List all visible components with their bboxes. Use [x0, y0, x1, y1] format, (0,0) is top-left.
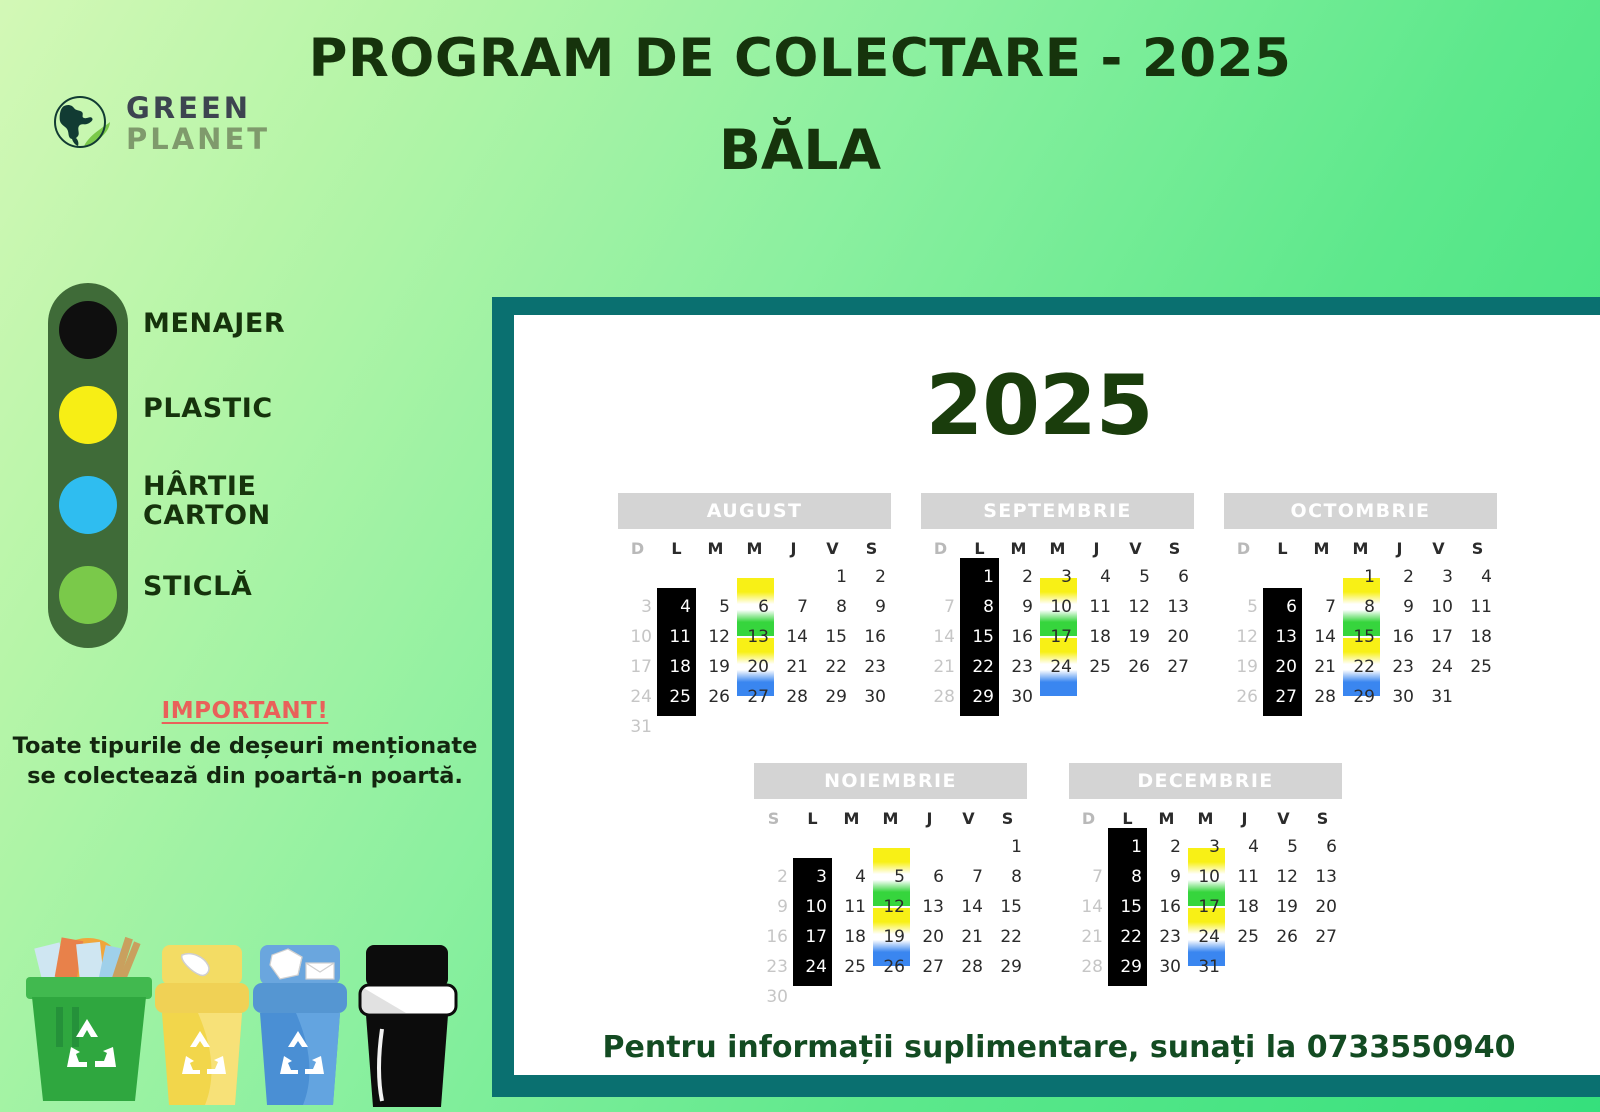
day-cell-22: 22: [813, 652, 852, 682]
day-number: 10: [1431, 597, 1453, 617]
day-cell-27: 27: [1155, 652, 1194, 682]
day-cell-16: 16: [754, 922, 793, 952]
day-cell-20: 20: [1155, 622, 1194, 652]
weekday-header-row: DLMMJVS: [921, 539, 1194, 558]
day-number: 30: [1392, 687, 1414, 707]
day-cell-6-plastic-sticla: 6: [735, 592, 774, 622]
day-number: 29: [1120, 957, 1142, 977]
day-number: 21: [933, 657, 955, 677]
day-number: 17: [1431, 627, 1453, 647]
weekday-1: L: [657, 539, 696, 558]
day-cell-26: 26: [871, 952, 910, 982]
day-number: 19: [883, 927, 905, 947]
day-cell-11-menajer: 11: [657, 622, 696, 652]
day-number: 28: [1081, 957, 1103, 977]
day-number: 20: [747, 657, 769, 677]
day-cell-empty: [1458, 682, 1497, 712]
day-number: 12: [708, 627, 730, 647]
day-number: 8: [1131, 867, 1142, 887]
weekday-5: V: [1264, 809, 1303, 828]
day-number: 24: [1431, 657, 1453, 677]
day-cell-23: 23: [852, 652, 891, 682]
day-cell-13: 13: [1155, 592, 1194, 622]
day-number: 13: [1167, 597, 1189, 617]
day-number: 3: [816, 867, 827, 887]
day-cell-9: 9: [754, 892, 793, 922]
day-cell-empty: [1069, 832, 1108, 862]
day-cell-15: 15: [988, 892, 1027, 922]
day-number: 22: [1120, 927, 1142, 947]
contact-footer: Pentru informații suplimentare, sunați l…: [514, 1030, 1600, 1065]
day-cell-14: 14: [949, 892, 988, 922]
poster-root: GREEN PLANET PROGRAM DE COLECTARE - 2025…: [0, 0, 1600, 1112]
day-grid: 1234567891011121314151617181920212223242…: [1224, 562, 1497, 712]
weekday-5: V: [1116, 539, 1155, 558]
day-cell-20-plastic-hartie: 20: [735, 652, 774, 682]
day-number: 20: [1315, 897, 1337, 917]
day-cell-24-menajer: 24: [793, 952, 832, 982]
day-cell-24: 24: [1419, 652, 1458, 682]
day-cell-31: 31: [1419, 682, 1458, 712]
day-cell-22-menajer: 22: [1108, 922, 1147, 952]
day-cell-25-menajer: 25: [657, 682, 696, 712]
day-number: 29: [1353, 687, 1375, 707]
day-cell-empty: [618, 562, 657, 592]
weekday-4: J: [910, 809, 949, 828]
legend-dot-menajer: [59, 301, 117, 359]
day-cell-7: 7: [1069, 862, 1108, 892]
day-number: 13: [922, 897, 944, 917]
day-cell-11: 11: [1077, 592, 1116, 622]
locality-title: BĂLA: [0, 118, 1600, 182]
day-cell-empty: [1077, 682, 1116, 712]
day-cell-26: 26: [1224, 682, 1263, 712]
day-number: 24: [1198, 927, 1220, 947]
day-number: 23: [1159, 927, 1181, 947]
day-number: 5: [1247, 597, 1258, 617]
day-cell-12: 12: [871, 892, 910, 922]
day-number: 5: [894, 867, 905, 887]
weekday-3: M: [1186, 809, 1225, 828]
day-cell-5: 5: [696, 592, 735, 622]
day-number: 23: [1011, 657, 1033, 677]
day-number: 31: [630, 717, 652, 737]
day-cell-5: 5: [1224, 592, 1263, 622]
weekday-2: M: [696, 539, 735, 558]
weekday-3: M: [1341, 539, 1380, 558]
day-cell-empty: [921, 562, 960, 592]
day-cell-8: 8: [988, 862, 1027, 892]
weekday-1: L: [960, 539, 999, 558]
day-number: 20: [1167, 627, 1189, 647]
day-number: 2: [1170, 837, 1181, 857]
day-number: 23: [766, 957, 788, 977]
green-recycling-bin: [26, 937, 152, 1101]
legend-label-hartie-line1: HÂRTIE: [143, 473, 271, 502]
day-cell-27: 27: [735, 682, 774, 712]
weekday-header-row: DLMMJVS: [1224, 539, 1497, 558]
black-household-bin: [360, 945, 456, 1107]
day-cell-empty: [1303, 952, 1342, 982]
day-cell-8-plastic-sticla: 8: [1341, 592, 1380, 622]
day-number: 22: [1353, 657, 1375, 677]
day-cell-28: 28: [774, 682, 813, 712]
day-number: 17: [1198, 897, 1220, 917]
day-number: 9: [777, 897, 788, 917]
day-number: 8: [1011, 867, 1022, 887]
day-cell-1-menajer: 1: [960, 562, 999, 592]
day-cell-26: 26: [696, 682, 735, 712]
weekday-0: D: [1069, 809, 1108, 828]
day-number: 21: [961, 927, 983, 947]
day-cell-16: 16: [1147, 892, 1186, 922]
day-cell-31: 31: [618, 712, 657, 742]
day-number: 28: [1314, 687, 1336, 707]
weekday-0: D: [921, 539, 960, 558]
important-notice: IMPORTANT! Toate tipurile de deșeuri men…: [0, 698, 490, 791]
day-number: 6: [933, 867, 944, 887]
day-number: 12: [1128, 597, 1150, 617]
day-cell-12: 12: [1224, 622, 1263, 652]
weekday-2: M: [1147, 809, 1186, 828]
legend-label-menajer: MENAJER: [143, 310, 285, 339]
weekday-0: D: [618, 539, 657, 558]
day-number: 16: [864, 627, 886, 647]
day-cell-12: 12: [696, 622, 735, 652]
day-number: 7: [1325, 597, 1336, 617]
day-number: 21: [1314, 657, 1336, 677]
day-cell-24-plastic-hartie: 24: [1038, 652, 1077, 682]
day-number: 2: [1403, 567, 1414, 587]
day-cell-24: 24: [618, 682, 657, 712]
day-cell-18: 18: [832, 922, 871, 952]
calendar-year-heading: 2025: [514, 357, 1564, 454]
day-number: 16: [1392, 627, 1414, 647]
day-cell-30: 30: [852, 682, 891, 712]
day-cell-18: 18: [1077, 622, 1116, 652]
day-number: 22: [1000, 927, 1022, 947]
day-cell-19: 19: [1224, 652, 1263, 682]
day-cell-2: 2: [754, 862, 793, 892]
day-cell-1-menajer: 1: [1108, 832, 1147, 862]
day-cell-22-plastic-hartie: 22: [1341, 652, 1380, 682]
day-cell-empty: [735, 712, 774, 742]
day-cell-14: 14: [1302, 622, 1341, 652]
weekday-6: S: [1303, 809, 1342, 828]
day-cell-7: 7: [1302, 592, 1341, 622]
day-number: 5: [1287, 837, 1298, 857]
day-cell-18-menajer: 18: [657, 652, 696, 682]
day-cell-empty: [657, 562, 696, 592]
important-line2: se colectează din poartă-n poartă.: [0, 762, 490, 792]
legend-dot-sticla: [59, 566, 117, 624]
weekday-header-row: DLMMJVS: [618, 539, 891, 558]
legend-label-plastic: PLASTIC: [143, 395, 273, 424]
day-number: 20: [1275, 657, 1297, 677]
day-cell-9: 9: [999, 592, 1038, 622]
yellow-plastic-bin: [155, 945, 249, 1105]
day-cell-30: 30: [1380, 682, 1419, 712]
day-number: 16: [1011, 627, 1033, 647]
weekday-4: J: [1077, 539, 1116, 558]
day-cell-21: 21: [1302, 652, 1341, 682]
day-number: 10: [1050, 597, 1072, 617]
day-cell-1: 1: [988, 832, 1027, 862]
weekday-3: M: [871, 809, 910, 828]
day-cell-14: 14: [921, 622, 960, 652]
day-cell-4: 4: [1458, 562, 1497, 592]
day-number: 16: [766, 927, 788, 947]
day-cell-28: 28: [949, 952, 988, 982]
day-number: 22: [825, 657, 847, 677]
day-number: 18: [669, 657, 691, 677]
day-cell-18: 18: [1458, 622, 1497, 652]
month-august: AUGUSTDLMMJVS123456789101112131415161718…: [618, 493, 891, 742]
day-number: 22: [972, 657, 994, 677]
month-septembrie: SEPTEMBRIEDLMMJVS12345678910111213141516…: [921, 493, 1194, 742]
day-cell-15-menajer: 15: [1108, 892, 1147, 922]
day-cell-15-menajer: 15: [960, 622, 999, 652]
day-number: 26: [883, 957, 905, 977]
day-number: 13: [1315, 867, 1337, 887]
day-number: 17: [1050, 627, 1072, 647]
day-number: 16: [1159, 897, 1181, 917]
day-cell-empty: [832, 832, 871, 862]
day-cell-29-menajer: 29: [1108, 952, 1147, 982]
weekday-4: J: [774, 539, 813, 558]
day-number: 29: [972, 687, 994, 707]
day-number: 7: [1092, 867, 1103, 887]
weekday-2: M: [999, 539, 1038, 558]
day-cell-8: 8: [813, 592, 852, 622]
day-cell-empty: [1224, 562, 1263, 592]
day-cell-10: 10: [1419, 592, 1458, 622]
day-cell-1: 1: [1341, 562, 1380, 592]
day-cell-empty: [949, 982, 988, 1012]
day-number: 12: [1236, 627, 1258, 647]
day-number: 19: [708, 657, 730, 677]
day-cell-13-menajer: 13: [1263, 622, 1302, 652]
day-cell-29: 29: [813, 682, 852, 712]
day-number: 27: [922, 957, 944, 977]
day-number: 15: [825, 627, 847, 647]
day-number: 31: [1431, 687, 1453, 707]
day-number: 21: [786, 657, 808, 677]
weekday-5: V: [813, 539, 852, 558]
weekday-3: M: [735, 539, 774, 558]
day-number: 10: [1198, 867, 1220, 887]
important-body: Toate tipurile de deșeuri menționate se …: [0, 732, 490, 791]
day-cell-17: 17: [1186, 892, 1225, 922]
day-number: 18: [844, 927, 866, 947]
day-cell-empty: [793, 982, 832, 1012]
day-cell-21: 21: [949, 922, 988, 952]
day-cell-16: 16: [1380, 622, 1419, 652]
day-cell-17: 17: [1038, 622, 1077, 652]
day-cell-19: 19: [696, 652, 735, 682]
day-cell-30: 30: [999, 682, 1038, 712]
day-number: 26: [708, 687, 730, 707]
day-number: 11: [1237, 867, 1259, 887]
weekday-1: L: [793, 809, 832, 828]
day-cell-19-plastic-hartie: 19: [871, 922, 910, 952]
day-cell-29: 29: [988, 952, 1027, 982]
day-cell-6: 6: [1155, 562, 1194, 592]
day-cell-15: 15: [1341, 622, 1380, 652]
day-cell-17-menajer: 17: [793, 922, 832, 952]
day-cell-empty: [852, 712, 891, 742]
day-cell-25: 25: [832, 952, 871, 982]
day-cell-2: 2: [1147, 832, 1186, 862]
day-cell-6: 6: [910, 862, 949, 892]
day-number: 9: [1170, 867, 1181, 887]
day-number: 30: [864, 687, 886, 707]
day-cell-27-menajer: 27: [1263, 682, 1302, 712]
day-number: 26: [1236, 687, 1258, 707]
day-cell-8-menajer: 8: [960, 592, 999, 622]
day-cell-empty: [1302, 562, 1341, 592]
day-cell-empty: [910, 832, 949, 862]
weekday-4: J: [1225, 809, 1264, 828]
legend-label-hartie: HÂRTIE CARTON: [143, 473, 271, 531]
day-number: 3: [641, 597, 652, 617]
day-cell-empty: [949, 832, 988, 862]
day-cell-empty: [774, 562, 813, 592]
weekday-5: V: [949, 809, 988, 828]
day-number: 27: [1275, 687, 1297, 707]
day-number: 10: [630, 627, 652, 647]
day-cell-30: 30: [1147, 952, 1186, 982]
day-cell-17: 17: [1419, 622, 1458, 652]
day-cell-10-plastic-sticla: 10: [1186, 862, 1225, 892]
weekday-1: L: [1108, 809, 1147, 828]
day-cell-23: 23: [1147, 922, 1186, 952]
day-number: 23: [1392, 657, 1414, 677]
day-cell-21: 21: [1069, 922, 1108, 952]
day-cell-4: 4: [832, 862, 871, 892]
day-cell-23: 23: [754, 952, 793, 982]
day-number: 11: [1470, 597, 1492, 617]
day-number: 20: [922, 927, 944, 947]
day-number: 18: [1237, 897, 1259, 917]
day-number: 14: [933, 627, 955, 647]
day-cell-29: 29: [1341, 682, 1380, 712]
day-cell-20: 20: [910, 922, 949, 952]
day-cell-10-menajer: 10: [793, 892, 832, 922]
day-cell-empty: [832, 982, 871, 1012]
day-cell-11: 11: [1458, 592, 1497, 622]
day-number: 4: [680, 597, 691, 617]
day-cell-1: 1: [813, 562, 852, 592]
day-number: 27: [1315, 927, 1337, 947]
day-number: 3: [1442, 567, 1453, 587]
day-number: 6: [1286, 597, 1297, 617]
day-cell-7: 7: [774, 592, 813, 622]
day-cell-empty: [910, 982, 949, 1012]
day-cell-2: 2: [999, 562, 1038, 592]
day-number: 4: [1248, 837, 1259, 857]
day-cell-25: 25: [1077, 652, 1116, 682]
day-cell-20-menajer: 20: [1263, 652, 1302, 682]
day-cell-3: 3: [618, 592, 657, 622]
day-cell-7: 7: [949, 862, 988, 892]
day-number: 12: [1276, 867, 1298, 887]
legend-label-sticla: STICLĂ: [143, 573, 252, 602]
day-number: 9: [875, 597, 886, 617]
day-number: 2: [777, 867, 788, 887]
day-number: 11: [844, 897, 866, 917]
month-decembrie: DECEMBRIEDLMMJVS123456789101112131415161…: [1069, 763, 1342, 1012]
day-cell-23: 23: [1380, 652, 1419, 682]
day-number: 3: [1061, 567, 1072, 587]
month-title: NOIEMBRIE: [754, 763, 1027, 799]
day-number: 1: [1364, 567, 1375, 587]
day-number: 14: [961, 897, 983, 917]
day-cell-23: 23: [999, 652, 1038, 682]
weekday-4: J: [1380, 539, 1419, 558]
day-cell-24-plastic-hartie: 24: [1186, 922, 1225, 952]
day-number: 6: [1178, 567, 1189, 587]
day-number: 5: [1139, 567, 1150, 587]
day-grid: 1234567891011121314151617181920212223242…: [921, 562, 1194, 712]
day-number: 1: [1011, 837, 1022, 857]
day-cell-5: 5: [1264, 832, 1303, 862]
day-number: 2: [875, 567, 886, 587]
day-cell-4-menajer: 4: [657, 592, 696, 622]
day-number: 5: [719, 597, 730, 617]
weekday-0: S: [754, 809, 793, 828]
day-cell-28: 28: [921, 682, 960, 712]
day-number: 19: [1128, 627, 1150, 647]
weekday-2: M: [832, 809, 871, 828]
day-cell-22-menajer: 22: [960, 652, 999, 682]
day-cell-10: 10: [618, 622, 657, 652]
day-number: 1: [983, 567, 994, 587]
day-number: 9: [1403, 597, 1414, 617]
day-cell-empty: [793, 832, 832, 862]
day-cell-26: 26: [1116, 652, 1155, 682]
day-cell-9: 9: [1380, 592, 1419, 622]
day-cell-12: 12: [1116, 592, 1155, 622]
day-cell-5: 5: [1116, 562, 1155, 592]
weekday-header-row: SLMMJVS: [754, 809, 1027, 828]
day-cell-empty: [696, 562, 735, 592]
day-cell-18: 18: [1225, 892, 1264, 922]
day-number: 26: [1276, 927, 1298, 947]
day-number: 15: [1000, 897, 1022, 917]
day-number: 8: [836, 597, 847, 617]
day-number: 18: [1470, 627, 1492, 647]
day-cell-empty: [1225, 952, 1264, 982]
day-cell-12: 12: [1264, 862, 1303, 892]
day-number: 4: [1100, 567, 1111, 587]
day-number: 14: [1081, 897, 1103, 917]
day-cell-5-plastic-sticla: 5: [871, 862, 910, 892]
day-cell-11: 11: [832, 892, 871, 922]
month-title: OCTOMBRIE: [1224, 493, 1497, 529]
day-cell-empty: [696, 712, 735, 742]
day-number: 1: [1131, 837, 1142, 857]
day-cell-9: 9: [852, 592, 891, 622]
day-number: 14: [1314, 627, 1336, 647]
day-cell-27: 27: [1303, 922, 1342, 952]
day-cell-3: 3: [1038, 562, 1077, 592]
month-title: SEPTEMBRIE: [921, 493, 1194, 529]
day-number: 11: [669, 627, 691, 647]
day-number: 19: [1236, 657, 1258, 677]
day-number: 28: [933, 687, 955, 707]
day-cell-empty: [1264, 952, 1303, 982]
